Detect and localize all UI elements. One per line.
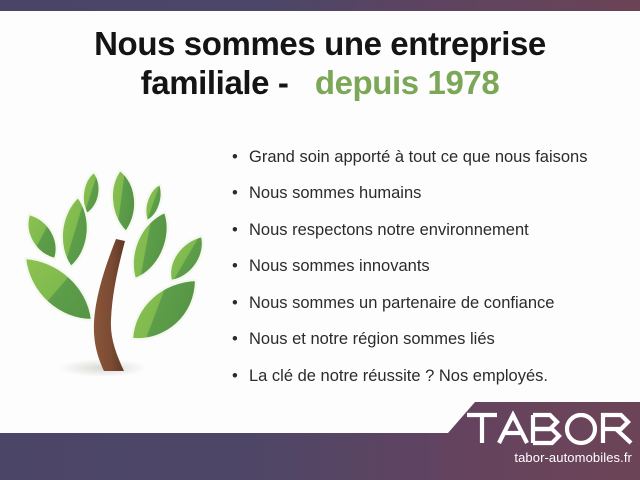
bullet-marker: • bbox=[232, 257, 238, 276]
bullet-marker: • bbox=[232, 367, 238, 386]
page-title: Nous sommes une entreprise familiale - d… bbox=[0, 25, 640, 103]
list-item: • Nous et notre région sommes liés bbox=[232, 330, 622, 349]
tree-leaf-mid-left bbox=[62, 197, 88, 267]
logo-wordmark bbox=[464, 410, 640, 446]
brand-logo: tabor-automobiles.fr bbox=[440, 402, 640, 480]
list-item-label: Nous sommes un partenaire de confiance bbox=[249, 294, 554, 312]
list-item-label: Nous respectons notre environnement bbox=[249, 221, 529, 239]
list-item: • Nous sommes humains bbox=[232, 184, 622, 203]
list-item-label: Grand soin apporté à tout ce que nous fa… bbox=[249, 148, 587, 166]
logo-tagline: tabor-automobiles.fr bbox=[440, 450, 632, 465]
bullet-marker: • bbox=[232, 148, 238, 167]
list-item-label: La clé de notre réussite ? Nos employés. bbox=[249, 367, 548, 385]
title-line-2: familiale - depuis 1978 bbox=[0, 64, 640, 103]
tree-leaf-lower-right bbox=[132, 280, 196, 339]
title-accent-year: depuis 1978 bbox=[315, 64, 500, 101]
tree-trunk bbox=[94, 239, 125, 371]
bullet-marker: • bbox=[232, 330, 238, 349]
benefits-list: • Grand soin apporté à tout ce que nous … bbox=[232, 148, 622, 403]
list-item-label: Nous sommes innovants bbox=[249, 257, 430, 275]
list-item: • Nous respectons notre environnement bbox=[232, 221, 622, 240]
list-item: • Nous sommes innovants bbox=[232, 257, 622, 276]
tree-illustration bbox=[8, 140, 223, 390]
tree-leaf-top-center bbox=[112, 170, 135, 232]
list-item: • Grand soin apporté à tout ce que nous … bbox=[232, 148, 622, 167]
title-line-1: Nous sommes une entreprise bbox=[0, 25, 640, 64]
tree-leaf-lower-left bbox=[25, 258, 92, 320]
bullet-marker: • bbox=[232, 221, 238, 240]
tree-leaf-mid-right bbox=[133, 212, 168, 279]
list-item-label: Nous sommes humains bbox=[249, 184, 421, 202]
list-item: • La clé de notre réussite ? Nos employé… bbox=[232, 367, 622, 386]
slide-canvas: Nous sommes une entreprise familiale - d… bbox=[0, 0, 640, 480]
list-item: • Nous sommes un partenaire de confiance bbox=[232, 294, 622, 313]
top-accent-bar bbox=[0, 0, 640, 11]
tree-leaf-far-right bbox=[170, 236, 203, 281]
bullet-marker: • bbox=[232, 184, 238, 203]
tree-leaf-far-left-upper bbox=[27, 214, 56, 259]
list-item-label: Nous et notre région sommes liés bbox=[249, 330, 495, 348]
title-line-2-main: familiale - bbox=[141, 64, 289, 101]
bullet-marker: • bbox=[232, 294, 238, 313]
